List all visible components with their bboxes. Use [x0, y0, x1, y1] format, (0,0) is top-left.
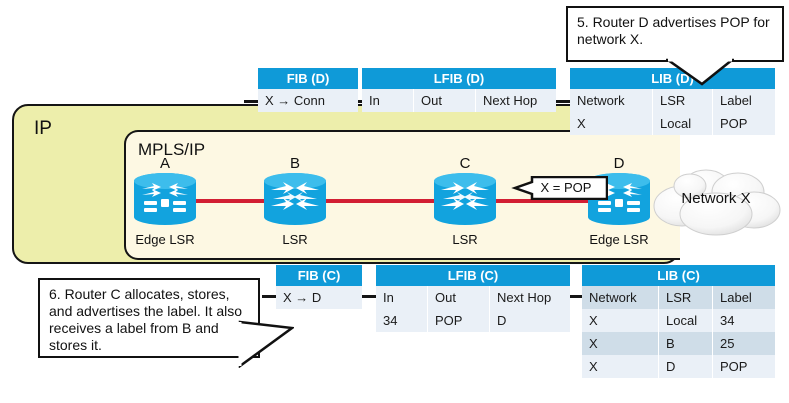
- router-d-name: D: [588, 155, 650, 172]
- table-row: X B 25: [582, 332, 775, 355]
- router-a-role: Edge LSR: [114, 232, 216, 247]
- table-fib-d: FIB (D) X → Conn: [258, 68, 358, 112]
- label-advertisement-text: X = POP: [528, 180, 604, 195]
- lib-d-r0-label: POP: [713, 112, 775, 135]
- lib-d-col-network: Network: [570, 89, 653, 112]
- table-row: 34 POP D: [376, 309, 570, 332]
- callout-step-5-text: 5. Router D advertises POP for network X…: [577, 14, 770, 47]
- lfib-d-col-in: In: [362, 89, 414, 112]
- lfib-c-r0-next-hop: D: [490, 309, 570, 332]
- router-c-icon: [434, 173, 496, 225]
- diagram-canvas: IP MPLS/IP A Edge LSR B: [0, 0, 789, 403]
- router-a-icon: [134, 173, 196, 225]
- router-b-name: B: [264, 155, 326, 172]
- lfib-c-col-in: In: [376, 286, 428, 309]
- table-fib-c: FIB (C) X → D: [276, 265, 362, 309]
- table-row: X → D: [276, 286, 362, 309]
- lib-d-col-label: Label: [713, 89, 775, 112]
- table-lfib-c-title: LFIB (C): [376, 265, 570, 286]
- table-lfib-d-title: LFIB (D): [362, 68, 556, 89]
- router-c-role: LSR: [434, 232, 496, 247]
- table-header-row: In Out Next Hop: [376, 286, 570, 309]
- ip-region-label: IP: [34, 118, 52, 140]
- router-b-role: LSR: [264, 232, 326, 247]
- table-row: X Local POP: [570, 112, 775, 135]
- lib-d-col-lsr: LSR: [653, 89, 713, 112]
- table-row: X → Conn: [258, 89, 358, 112]
- callout-step-5-tail-icon: [666, 58, 734, 86]
- router-c-name: C: [434, 155, 496, 172]
- table-row: X Local 34: [582, 309, 775, 332]
- callout-step-6: 6. Router C allocates, stores, and adver…: [38, 278, 260, 358]
- router-a-name: A: [134, 155, 196, 172]
- fib-d-route: X → Conn: [258, 89, 358, 112]
- lib-c-col-network: Network: [582, 286, 659, 309]
- table-header-row: Network LSR Label: [570, 89, 775, 112]
- fib-c-route: X → D: [276, 286, 362, 309]
- callout-step-6-text: 6. Router C allocates, stores, and adver…: [49, 286, 242, 353]
- lib-c-r0-label: 34: [713, 309, 775, 332]
- lib-c-col-lsr: LSR: [659, 286, 713, 309]
- connector-lfib-lib-d: [556, 100, 570, 103]
- lib-c-r1-label: 25: [713, 332, 775, 355]
- table-lfib-c: LFIB (C) In Out Next Hop 34 POP D: [376, 265, 570, 332]
- lib-c-r1-lsr: B: [659, 332, 713, 355]
- table-header-row: Network LSR Label: [582, 286, 775, 309]
- lib-c-r0-network: X: [582, 309, 659, 332]
- lib-c-r1-network: X: [582, 332, 659, 355]
- lfib-d-col-next-hop: Next Hop: [476, 89, 556, 112]
- callout-step-6-tail-icon: [238, 320, 294, 368]
- table-fib-c-title: FIB (C): [276, 265, 362, 286]
- table-lib-c: LIB (C) Network LSR Label X Local 34 X B…: [582, 265, 775, 378]
- lfib-c-r0-out: POP: [428, 309, 490, 332]
- lfib-c-col-next-hop: Next Hop: [490, 286, 570, 309]
- table-lfib-d: LFIB (D) In Out Next Hop: [362, 68, 556, 112]
- lib-c-r2-network: X: [582, 355, 659, 378]
- lib-c-r2-lsr: D: [659, 355, 713, 378]
- connector-fib-lfib-c: [362, 295, 376, 298]
- lib-c-r0-lsr: Local: [659, 309, 713, 332]
- connector-lfib-lib-c: [570, 295, 582, 298]
- table-row: X D POP: [582, 355, 775, 378]
- lib-d-r0-lsr: Local: [653, 112, 713, 135]
- connector-left-fib-c: [262, 295, 276, 298]
- router-b-icon: [264, 173, 326, 225]
- table-header-row: In Out Next Hop: [362, 89, 556, 112]
- lib-d-r0-network: X: [570, 112, 653, 135]
- lib-c-col-label: Label: [713, 286, 775, 309]
- connector-left-fib-d: [244, 100, 258, 103]
- table-fib-d-title: FIB (D): [258, 68, 358, 89]
- network-x-cloud-label: Network X: [646, 190, 786, 207]
- lfib-c-col-out: Out: [428, 286, 490, 309]
- lib-c-r2-label: POP: [713, 355, 775, 378]
- table-lib-c-title: LIB (C): [582, 265, 775, 286]
- lfib-d-col-out: Out: [414, 89, 476, 112]
- lfib-c-r0-in: 34: [376, 309, 428, 332]
- callout-step-5: 5. Router D advertises POP for network X…: [566, 6, 784, 62]
